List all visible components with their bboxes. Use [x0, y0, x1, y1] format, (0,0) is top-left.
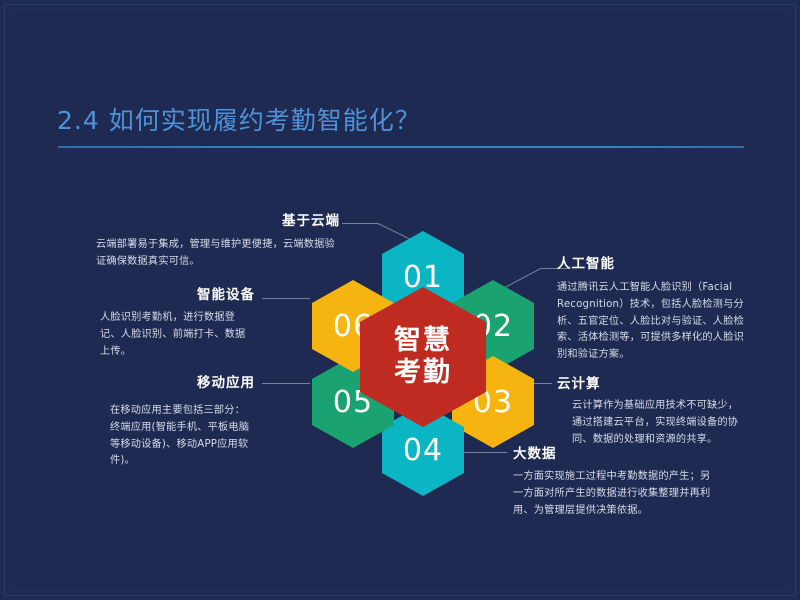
block-mobile-app: 移动应用 在移动应用主要包括三部分：终端应用(智能手机、平板电脑等移动设备)、移…	[110, 371, 255, 470]
block-big-data-body: 一方面实现施工过程中考勤数据的产生；另一方面对所产生的数据进行收集整理并再利用、…	[513, 469, 718, 519]
block-ai-body: 通过腾讯云人工智能人脸识别（Facial Recognition）技术，包括人脸…	[557, 280, 747, 364]
title-divider	[58, 146, 744, 148]
block-cloud-based-heading: 基于云端	[96, 209, 340, 229]
connector-line-01-horizontal	[342, 223, 378, 224]
connector-line-06-horizontal	[262, 298, 310, 299]
block-smart-device: 智能设备 人脸识别考勤机，进行数据登记、人脸识别、前端打卡、数据上传。	[100, 283, 255, 360]
block-cloud-based: 基于云端 云端部署易于集成，管理与维护更便捷，云端数据验证确保数据真实可信。	[96, 209, 340, 271]
connector-line-05-horizontal	[262, 383, 310, 384]
block-mobile-app-body: 在移动应用主要包括三部分：终端应用(智能手机、平板电脑等移动设备)、移动APP应…	[110, 403, 255, 470]
hex-04-number: 04	[403, 433, 443, 468]
block-cloud-computing-heading: 云计算	[557, 372, 747, 392]
block-ai-heading: 人工智能	[557, 252, 747, 272]
block-smart-device-body: 人脸识别考勤机，进行数据登记、人脸识别、前端打卡、数据上传。	[100, 310, 255, 360]
center-label-line2: 考勤	[394, 357, 452, 389]
block-big-data: 大数据 一方面实现施工过程中考勤数据的产生；另一方面对所产生的数据进行收集整理并…	[513, 442, 718, 519]
block-mobile-app-heading: 移动应用	[110, 371, 255, 391]
center-label-line1: 智慧	[394, 325, 452, 357]
block-cloud-based-body: 云端部署易于集成，管理与维护更便捷，云端数据验证确保数据真实可信。	[96, 237, 340, 271]
block-ai: 人工智能 通过腾讯云人工智能人脸识别（Facial Recognition）技术…	[557, 252, 747, 364]
block-smart-device-heading: 智能设备	[100, 283, 255, 303]
block-cloud-computing-body: 云计算作为基础应用技术不可缺少，通过搭建云平台，实现终端设备的协同、数据的处理和…	[557, 398, 747, 448]
block-cloud-computing: 云计算 云计算作为基础应用技术不可缺少，通过搭建云平台，实现终端设备的协同、数据…	[557, 372, 747, 448]
block-big-data-heading: 大数据	[513, 442, 718, 462]
slide-canvas: 2.4 如何实现履约考勤智能化？ 01 02 03 04 05 06 智慧	[0, 0, 800, 600]
page-title: 2.4 如何实现履约考勤智能化？	[57, 101, 421, 137]
connector-line-02-diagonal	[503, 268, 541, 289]
